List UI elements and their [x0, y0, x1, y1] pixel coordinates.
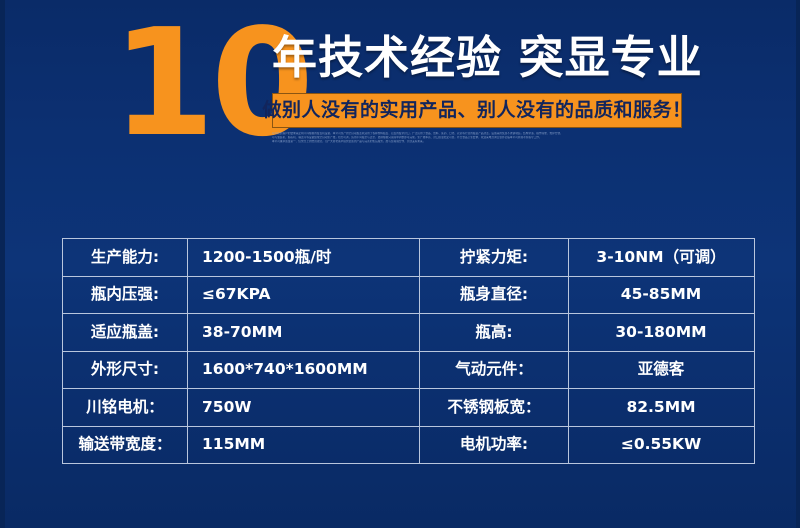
spec-cell-group-left: 输送带宽度： 115MM — [63, 427, 420, 464]
header-banner: 10 年技术经验 突显专业 做别人没有的实用产品、别人没有的品质和服务！ 可以按… — [0, 0, 800, 175]
spec-label: 外形尺寸: — [63, 352, 188, 389]
spec-value: 750W — [188, 389, 419, 426]
spec-label: 电机功率: — [420, 427, 569, 464]
spec-cell-group-right: 瓶高: 30-180MM — [420, 314, 754, 351]
spec-cell-group-right: 不锈钢板宽： 82.5MM — [420, 389, 754, 426]
spec-value: 1200-1500瓶/时 — [188, 239, 419, 276]
spec-value: 1600*740*1600MM — [188, 352, 419, 389]
subhead-text: 做别人没有的实用产品、别人没有的品质和服务！ — [263, 101, 692, 120]
spec-value: 115MM — [188, 427, 419, 464]
spec-cell-group-right: 拧紧力矩: 3-10NM（可调） — [420, 239, 754, 276]
spec-value: 亚德客 — [569, 352, 753, 389]
spec-label: 瓶内压强: — [63, 277, 188, 314]
subhead-highlight-bar: 做别人没有的实用产品、别人没有的品质和服务！ — [272, 93, 682, 128]
spec-value: 38-70MM — [188, 314, 419, 351]
spec-label: 瓶高: — [420, 314, 569, 351]
spec-value: 30-180MM — [569, 314, 753, 351]
specification-table: 生产能力: 1200-1500瓶/时 拧紧力矩: 3-10NM（可调） 瓶内压强… — [62, 238, 755, 464]
spec-value: 3-10NM（可调） — [569, 239, 753, 276]
spec-cell-group-left: 川铭电机： 750W — [63, 389, 420, 426]
spec-cell-group-left: 瓶内压强: ≤67KPA — [63, 277, 420, 314]
spec-label: 生产能力: — [63, 239, 188, 276]
banner-page: 10 年技术经验 突显专业 做别人没有的实用产品、别人没有的品质和服务！ 可以按… — [0, 0, 800, 528]
spec-cell-group-left: 生产能力: 1200-1500瓶/时 — [63, 239, 420, 276]
table-row: 瓶内压强: ≤67KPA 瓶身直径: 45-85MM — [63, 277, 754, 315]
table-row: 生产能力: 1200-1500瓶/时 拧紧力矩: 3-10NM（可调） — [63, 239, 754, 277]
spec-value: 82.5MM — [569, 389, 753, 426]
spec-cell-group-right: 气动元件： 亚德客 — [420, 352, 754, 389]
spec-label: 输送带宽度： — [63, 427, 188, 464]
spec-value: 45-85MM — [569, 277, 753, 314]
spec-cell-group-right: 瓶身直径: 45-85MM — [420, 277, 754, 314]
spec-cell-group-left: 适应瓶盖: 38-70MM — [63, 314, 420, 351]
table-row: 外形尺寸: 1600*740*1600MM 气动元件： 亚德客 — [63, 352, 754, 390]
table-row: 适应瓶盖: 38-70MM 瓶高: 30-180MM — [63, 314, 754, 352]
spec-label: 气动元件： — [420, 352, 569, 389]
spec-label: 拧紧力矩: — [420, 239, 569, 276]
spec-label: 川铭电机： — [63, 389, 188, 426]
table-row: 输送带宽度： 115MM 电机功率: ≤0.55KW — [63, 427, 754, 464]
microcopy-block: 可以按照客户的要求来定制不同规格的旋盖机设备，本公司生产的全自动旋盖机适用于各种… — [272, 132, 684, 145]
table-row: 川铭电机： 750W 不锈钢板宽： 82.5MM — [63, 389, 754, 427]
spec-cell-group-right: 电机功率: ≤0.55KW — [420, 427, 754, 464]
spec-label: 不锈钢板宽： — [420, 389, 569, 426]
spec-cell-group-left: 外形尺寸: 1600*740*1600MM — [63, 352, 420, 389]
spec-value: ≤67KPA — [188, 277, 419, 314]
microcopy-line: 本公司秉承质量第一、信誉至上的经营理念，为广大新老客户提供优质的产品与完善的售后… — [272, 140, 684, 144]
headline-text: 年技术经验 突显专业 — [272, 32, 703, 84]
years-number: 10 — [112, 8, 272, 158]
spec-label: 适应瓶盖: — [63, 314, 188, 351]
spec-value: ≤0.55KW — [569, 427, 753, 464]
spec-label: 瓶身直径: — [420, 277, 569, 314]
